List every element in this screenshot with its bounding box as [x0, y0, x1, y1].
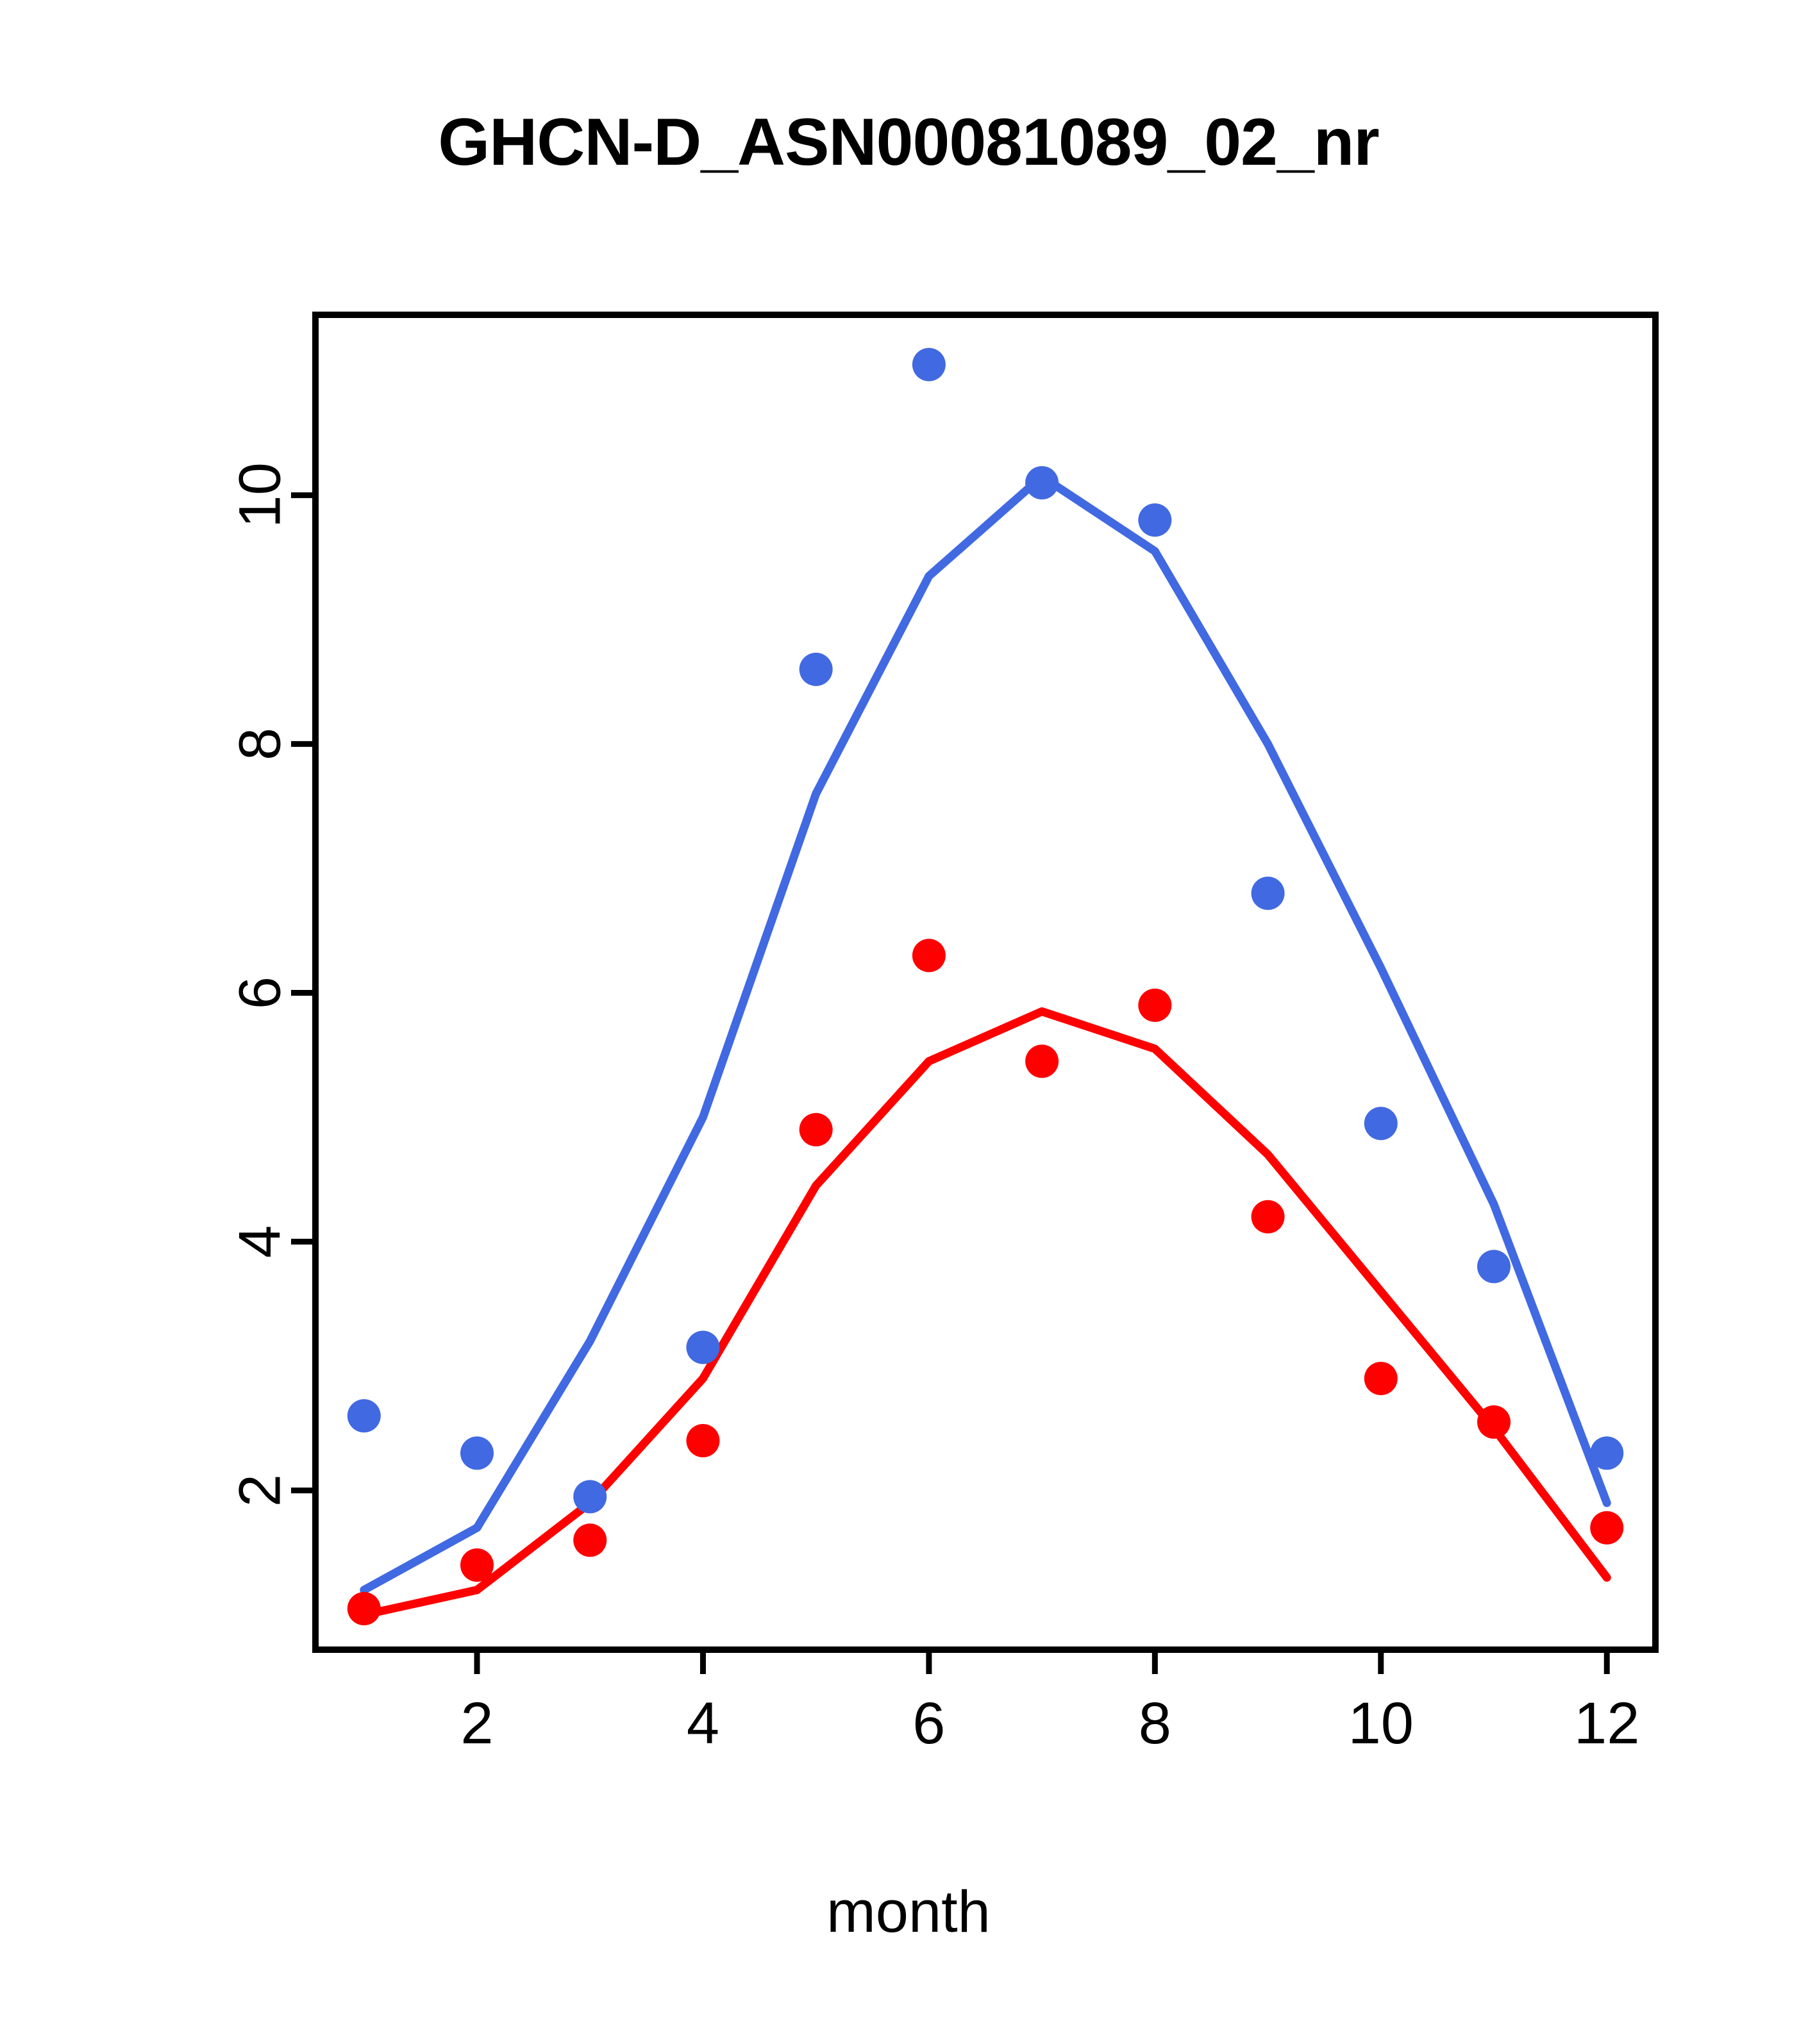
- x-axis-tick-label: 4: [687, 1691, 719, 1756]
- data-point-blue-points: [460, 1436, 494, 1470]
- data-point-red-points: [573, 1523, 607, 1557]
- data-point-blue-points: [573, 1480, 607, 1513]
- data-point-red-points: [912, 939, 946, 972]
- chart-figure: GHCN-D_ASN00081089_02_nr 24681012246810 …: [0, 0, 1817, 2044]
- data-point-blue-points: [1477, 1250, 1511, 1283]
- data-point-red-points: [1590, 1511, 1623, 1545]
- data-point-blue-points: [1138, 503, 1171, 537]
- data-point-blue-points: [1025, 466, 1059, 499]
- data-point-red-points: [1477, 1405, 1511, 1439]
- plot-area: 24681012246810: [0, 0, 1817, 2044]
- data-point-red-points: [1138, 989, 1171, 1022]
- y-axis-tick-label: 10: [227, 462, 292, 528]
- y-axis-tick-label: 6: [227, 976, 292, 1009]
- data-point-blue-points: [800, 653, 833, 686]
- data-point-red-points: [1252, 1200, 1285, 1234]
- data-point-blue-points: [1364, 1107, 1398, 1140]
- series-line-red-line: [364, 1012, 1607, 1615]
- data-point-blue-points: [347, 1399, 381, 1432]
- x-axis-tick-label: 6: [912, 1691, 945, 1756]
- data-point-blue-points: [912, 348, 946, 381]
- data-point-blue-points: [686, 1330, 719, 1364]
- x-axis-tick-label: 12: [1574, 1691, 1639, 1756]
- data-point-red-points: [460, 1548, 494, 1582]
- y-axis-tick-label: 4: [227, 1225, 292, 1258]
- data-point-blue-points: [1590, 1436, 1623, 1470]
- x-axis-tick-label: 8: [1139, 1691, 1171, 1756]
- data-point-red-points: [800, 1113, 833, 1146]
- data-point-red-points: [1364, 1362, 1398, 1395]
- plot-box-border: [315, 315, 1655, 1650]
- y-axis-tick-label: 8: [227, 728, 292, 760]
- data-point-red-points: [1025, 1044, 1059, 1078]
- x-axis-tick-label: 10: [1348, 1691, 1414, 1756]
- x-axis-label: month: [0, 1879, 1817, 1946]
- data-point-red-points: [686, 1424, 719, 1457]
- x-axis-tick-label: 2: [460, 1691, 493, 1756]
- data-point-red-points: [347, 1592, 381, 1625]
- data-point-blue-points: [1252, 876, 1285, 910]
- y-axis-tick-label: 2: [227, 1474, 292, 1507]
